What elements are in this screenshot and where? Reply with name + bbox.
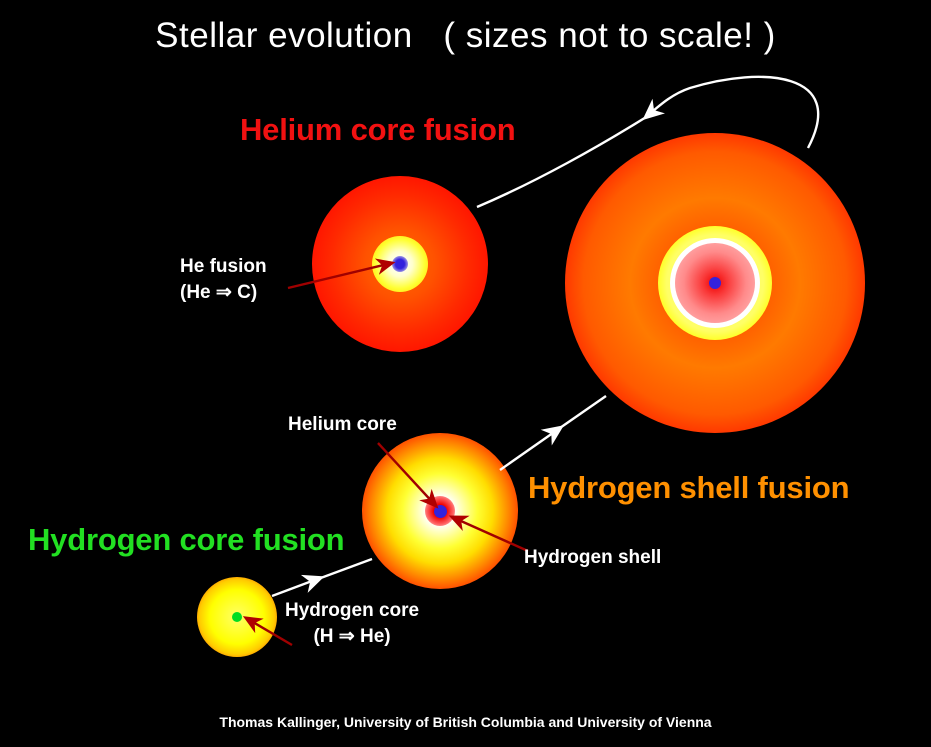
arrow-subgiant-to-giant-tail <box>557 396 606 430</box>
label-helium-core: Helium core <box>288 412 397 438</box>
label-hydrogen-shell: Hydrogen shell <box>524 545 661 571</box>
arrow-main-to-subgiant <box>272 578 320 596</box>
heading-hydrogen-shell-fusion: Hydrogen shell fusion <box>528 470 849 506</box>
arrow-subgiant-to-giant <box>500 428 560 470</box>
subgiant-core-dot <box>434 505 447 518</box>
page-title: Stellar evolution ( sizes not to scale! … <box>0 16 931 56</box>
credit-line: Thomas Kallinger, University of British … <box>0 714 931 730</box>
heading-hydrogen-core-fusion: Hydrogen core fusion <box>28 522 344 558</box>
arrow-main-to-subgiant-tail <box>318 559 372 579</box>
heading-helium-core-fusion: Helium core fusion <box>240 112 515 148</box>
helium-core-fusion-star-core-dot <box>392 256 408 272</box>
main-sequence-core-dot <box>232 612 242 622</box>
label-he-fusion: He fusion (He ⇒ C) <box>180 254 267 306</box>
red-giant-core-dot <box>709 277 721 289</box>
slide-canvas: Stellar evolution ( sizes not to scale! … <box>0 0 931 747</box>
label-hydrogen-core: Hydrogen core (H ⇒ He) <box>285 598 419 650</box>
